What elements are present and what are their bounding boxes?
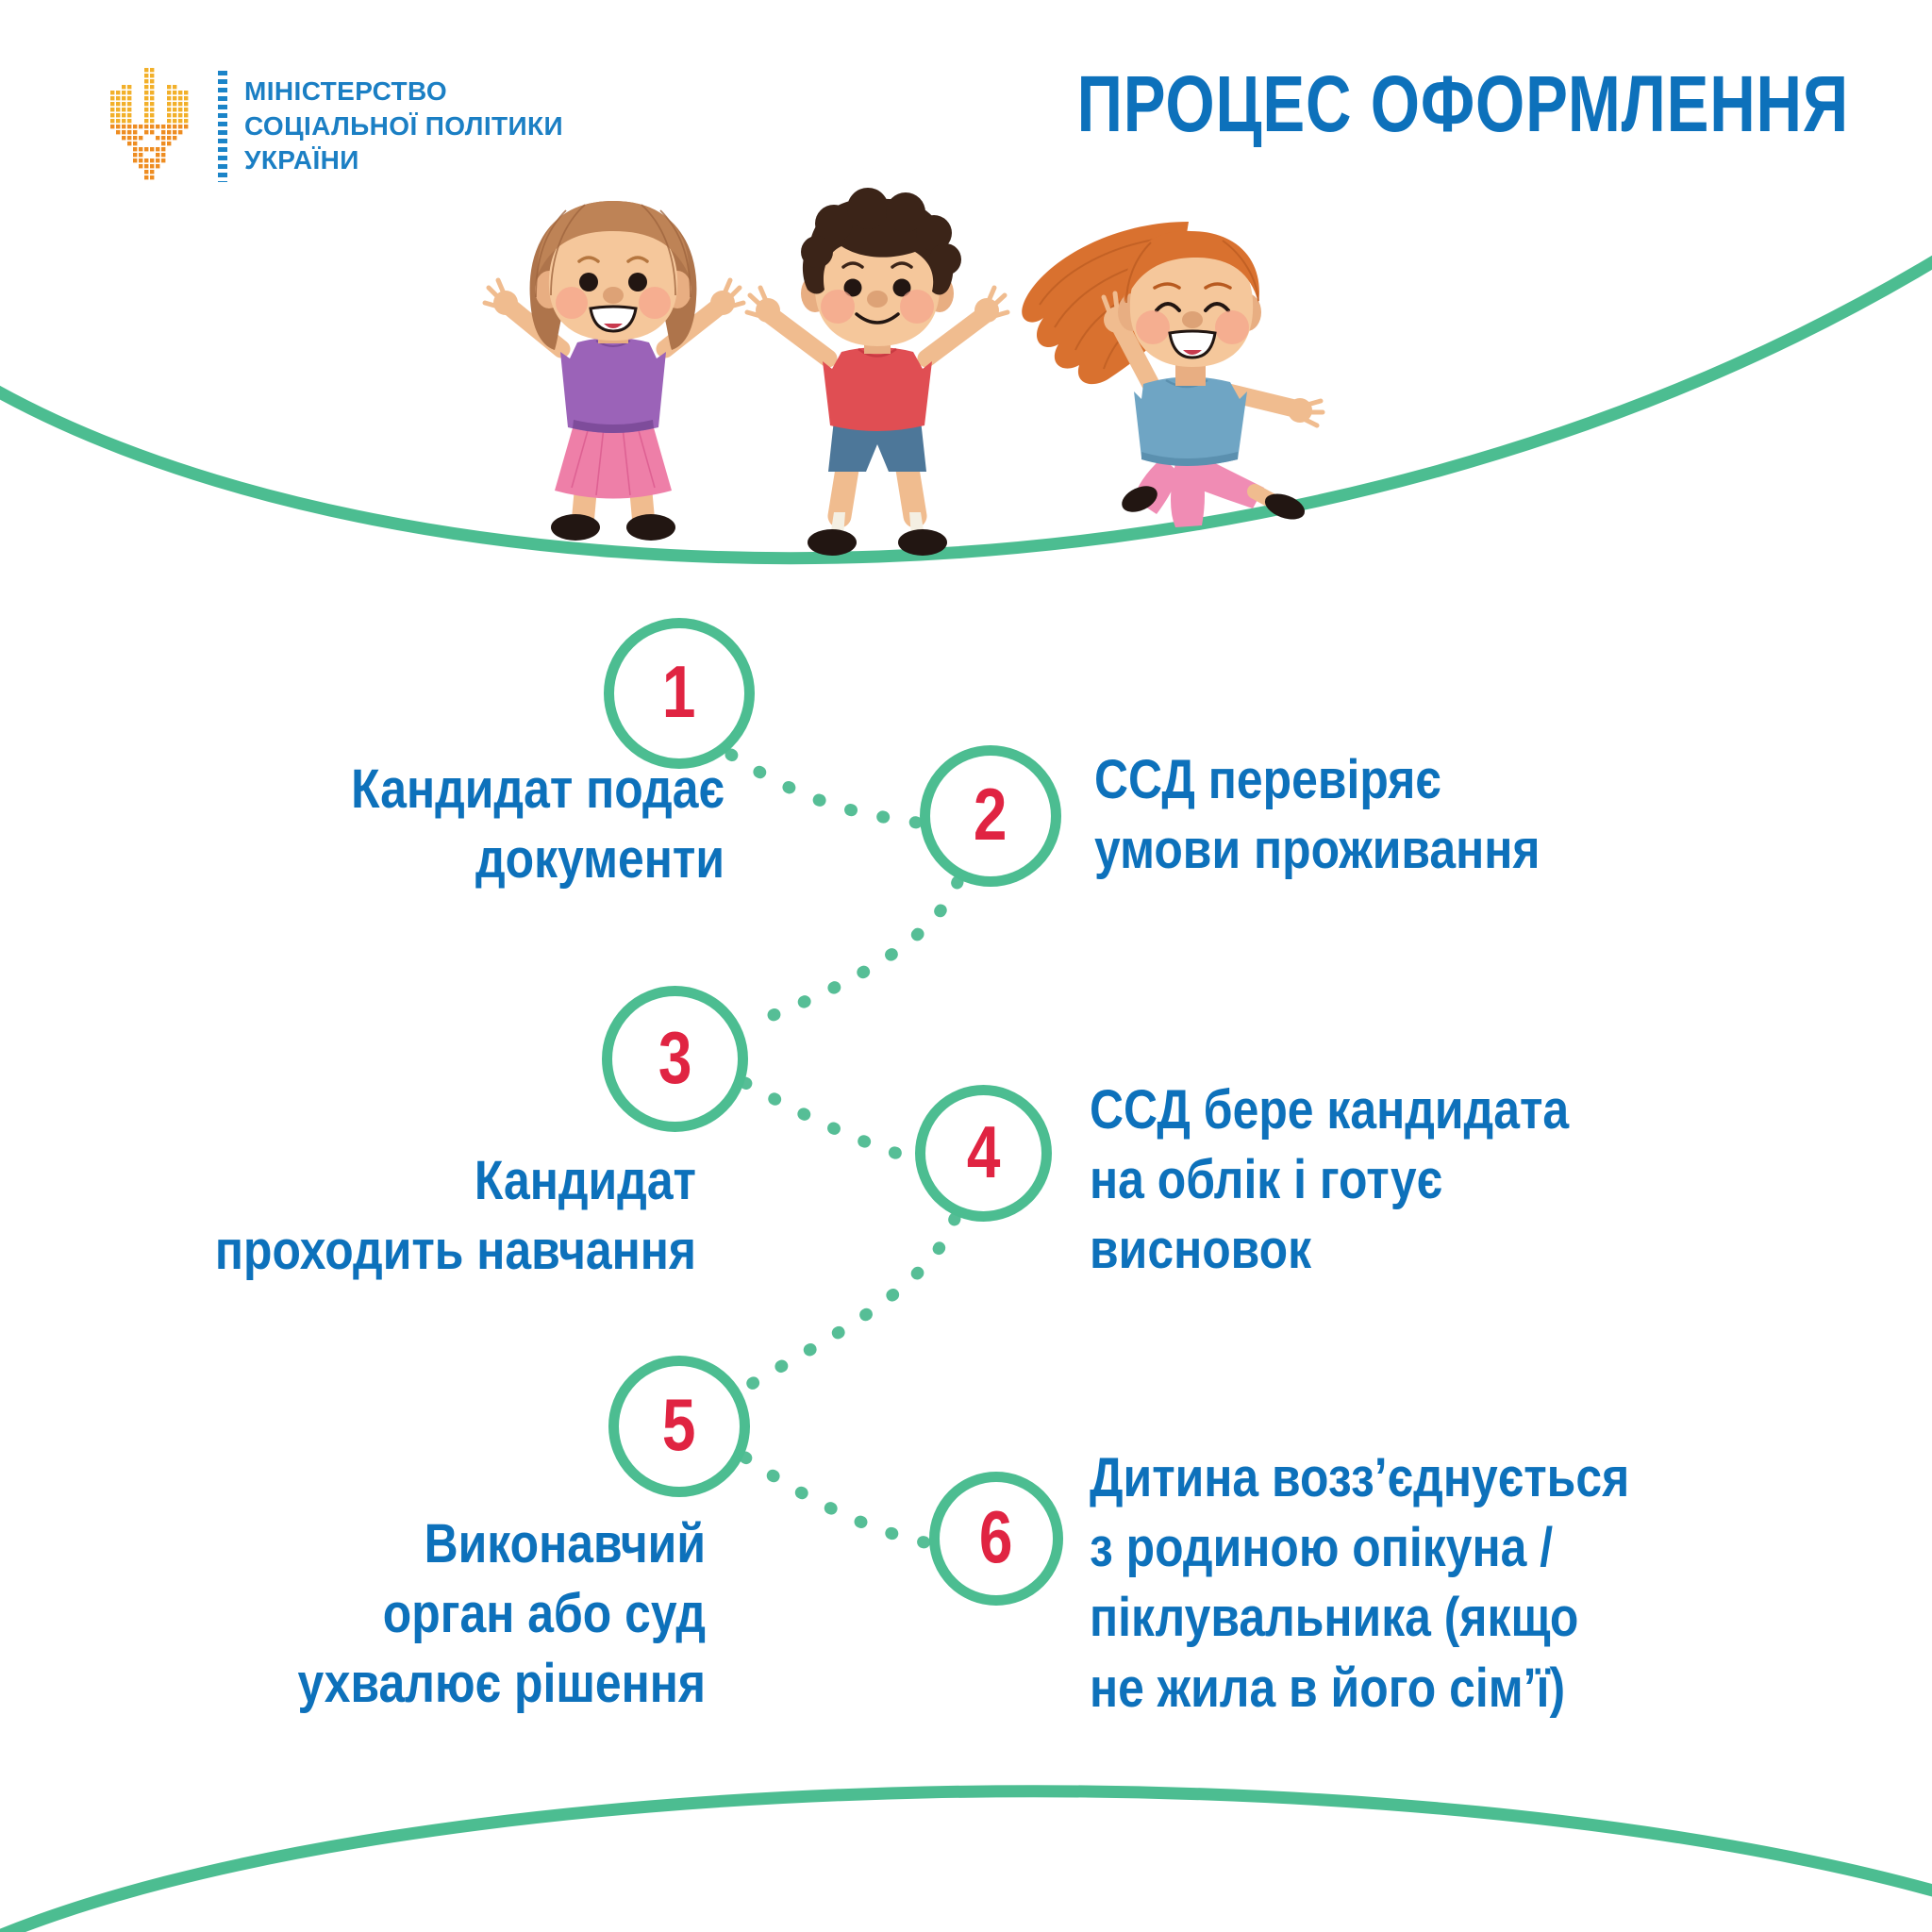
step-label-5: Виконавчий орган або суд ухвалює рішення: [57, 1509, 706, 1720]
step-number-4: 4: [967, 1115, 1001, 1189]
step-number-1: 1: [662, 655, 696, 728]
step-circle-5[interactable]: 5: [608, 1356, 750, 1497]
step-number-2: 2: [974, 777, 1008, 851]
children-illustration: [472, 184, 1340, 561]
connector-2-3: [745, 882, 958, 1026]
step-label-2: ССД перевіряє умови проживання: [1094, 745, 1711, 885]
step-circle-4[interactable]: 4: [915, 1085, 1052, 1222]
logo-divider: [218, 71, 227, 182]
child-girl-brown-hair: [472, 184, 755, 552]
step-circle-2[interactable]: 2: [920, 745, 1061, 887]
connector-4-5: [747, 1219, 955, 1387]
ministry-name: Міністерство соціальної політики України: [244, 75, 563, 177]
bottom-green-curve: [0, 1791, 1932, 1932]
child-girl-ginger-hair: [1000, 184, 1340, 552]
ministry-line-3: України: [244, 143, 563, 177]
step-label-3: Кандидат проходить навчання: [47, 1146, 696, 1286]
infographic-canvas: Міністерство соціальної політики України…: [0, 0, 1932, 1932]
step-label-4: ССД бере кандидата на облік і готує висн…: [1090, 1075, 1707, 1286]
connector-3-4: [745, 1083, 913, 1158]
step-number-3: 3: [658, 1021, 692, 1094]
ukrainian-trident-icon: [99, 64, 201, 189]
step-circle-3[interactable]: 3: [602, 986, 748, 1132]
connector-1-2: [731, 755, 917, 823]
ministry-line-2: соціальної політики: [244, 109, 563, 143]
step-circle-6[interactable]: 6: [929, 1472, 1063, 1606]
connector-5-6: [745, 1457, 929, 1543]
ministry-line-1: Міністерство: [244, 75, 563, 108]
step-number-6: 6: [979, 1500, 1013, 1574]
step-circle-1[interactable]: 1: [604, 618, 755, 769]
ministry-logo: Міністерство соціальної політики України: [99, 64, 563, 189]
child-boy-dark-hair: [736, 184, 1019, 566]
step-label-1: Кандидат подає документи: [125, 755, 724, 894]
step-number-5: 5: [662, 1388, 696, 1461]
step-label-6: Дитина возз’єднується з родиною опікуна …: [1090, 1443, 1730, 1724]
page-title: ПРОЦЕС ОФОРМЛЕННЯ: [1077, 58, 1849, 150]
